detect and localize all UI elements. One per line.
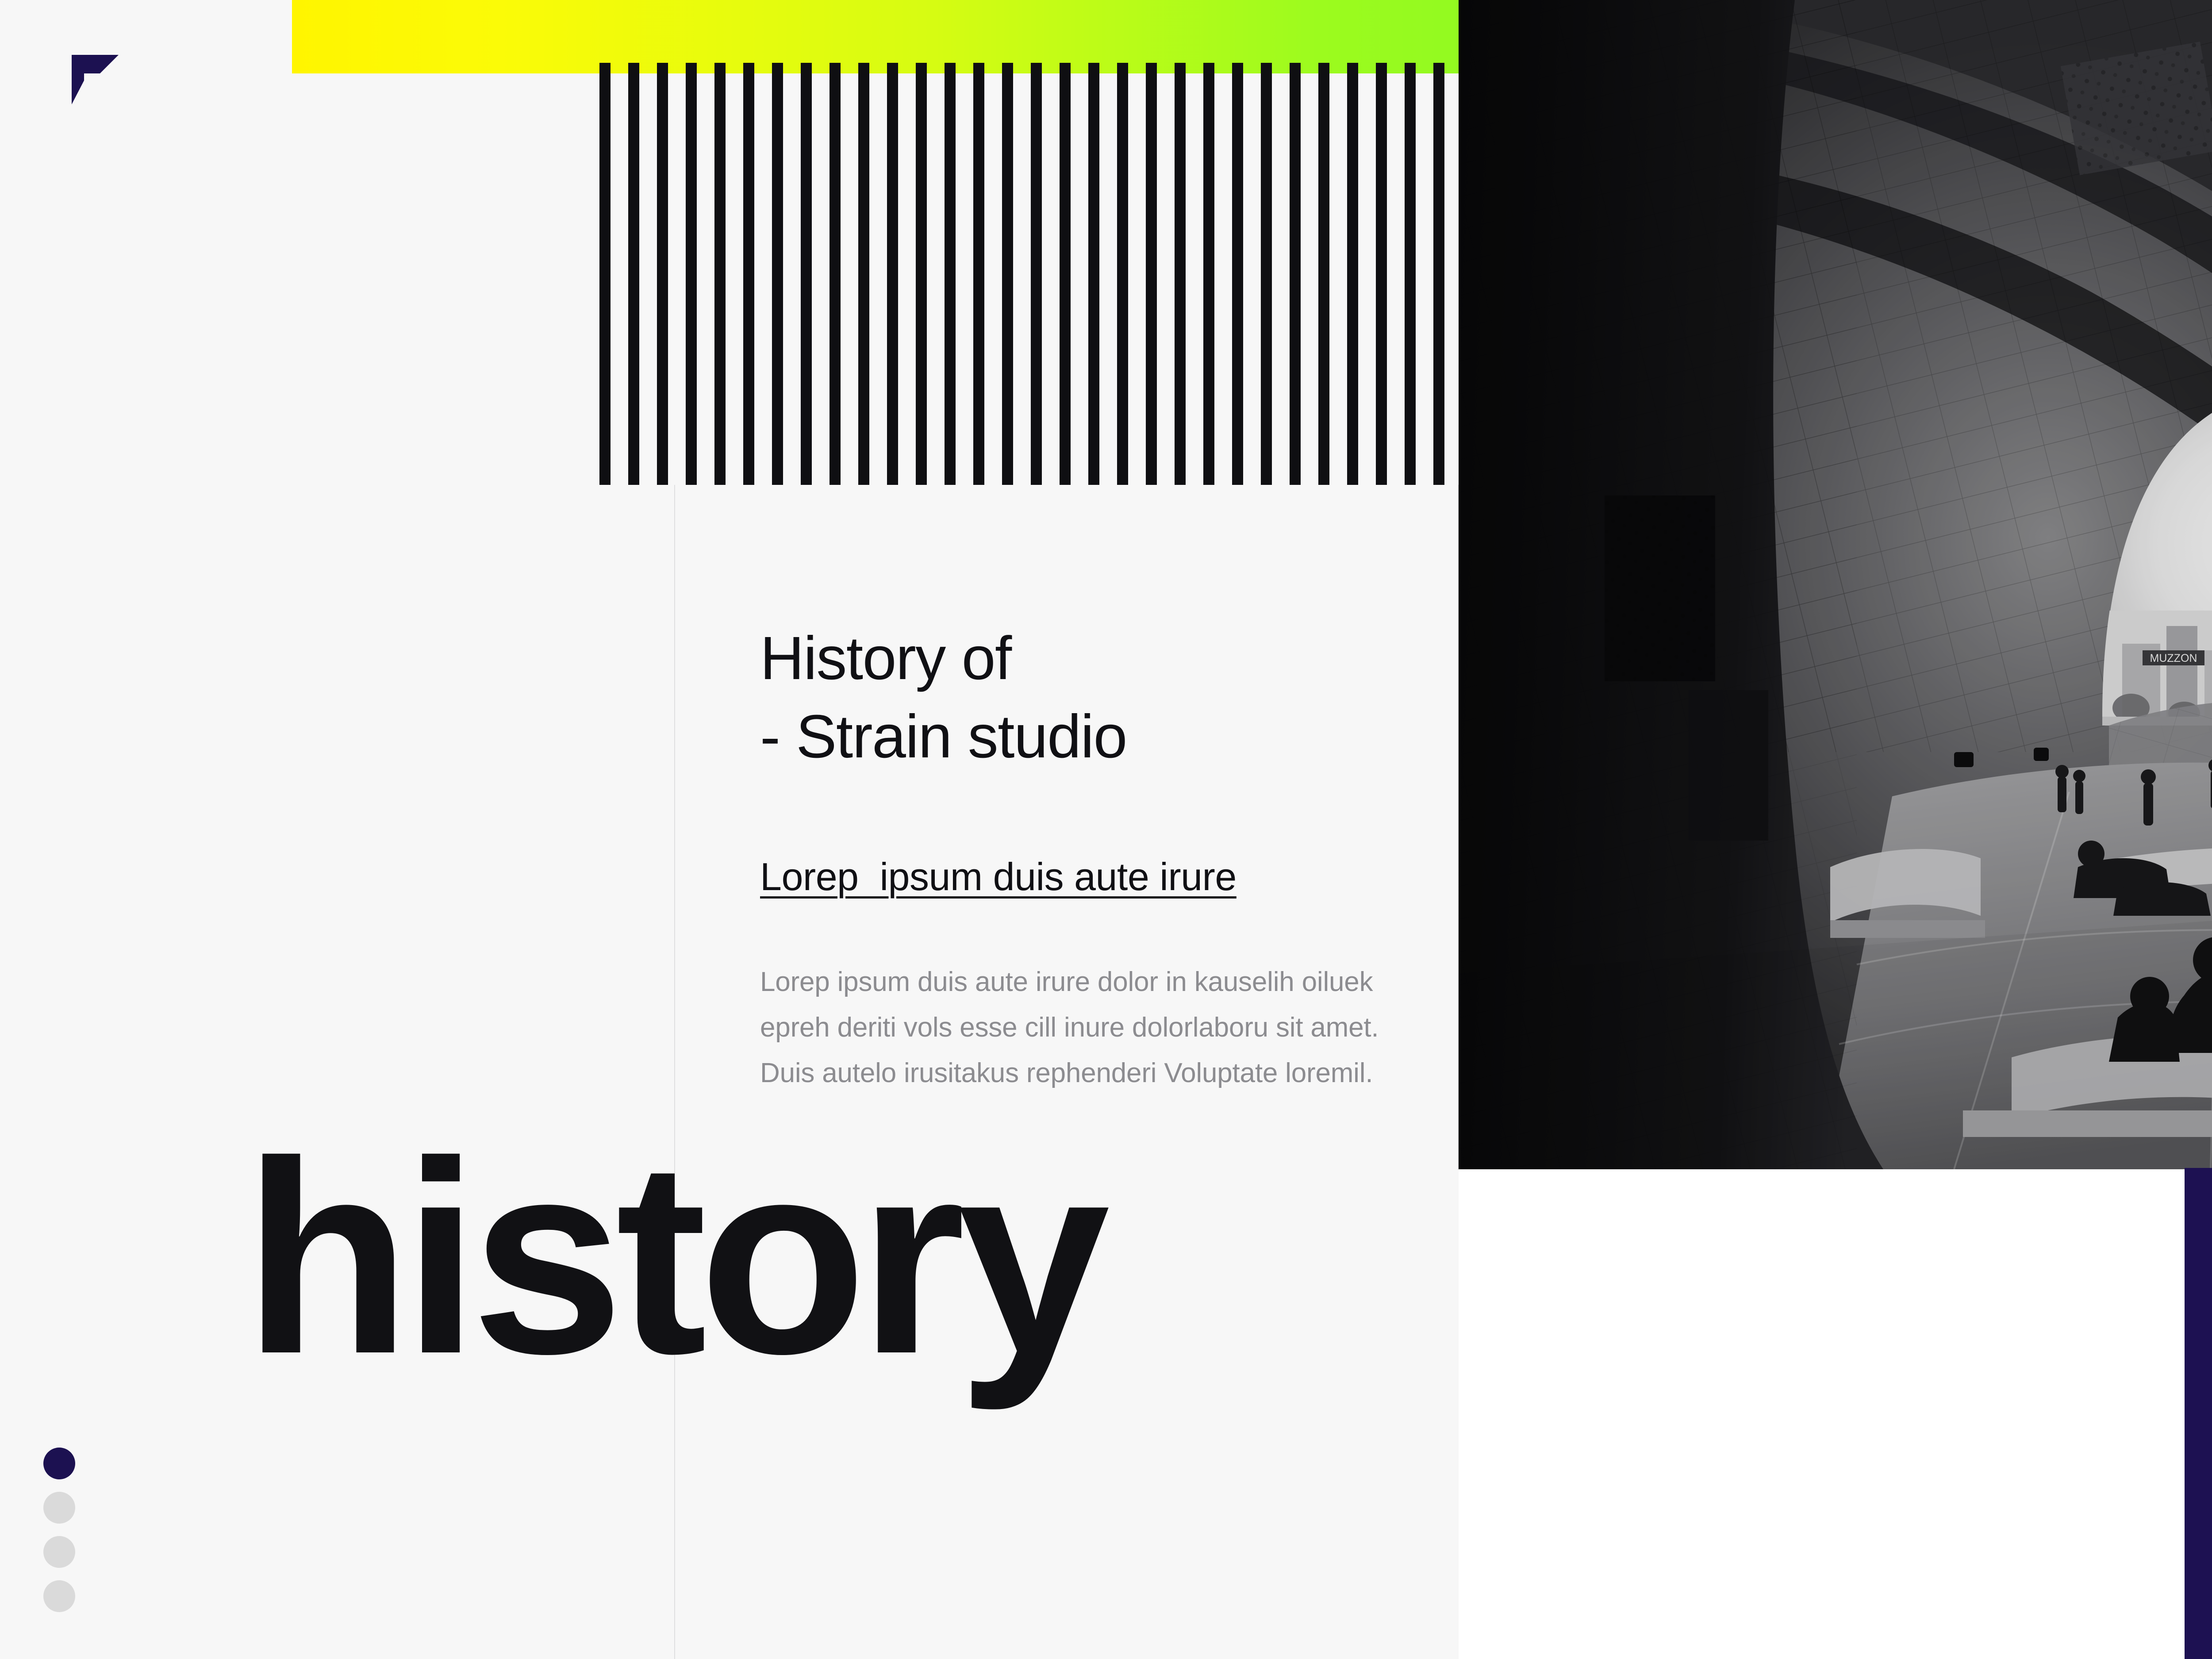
pagination-dot-1[interactable] — [43, 1448, 75, 1479]
decorative-word-history: history — [243, 1121, 1102, 1395]
lower-right-white-panel — [1459, 1169, 2212, 1659]
callout-panel: Lorep ipsum duis aute irure dolor in kau… — [2185, 1168, 2212, 1659]
page-title: History of - Strain studio — [760, 619, 1424, 776]
pagination-dot-2[interactable] — [43, 1492, 75, 1524]
pagination-dots[interactable] — [43, 1448, 75, 1612]
section-subheading-link[interactable]: Lorep ipsum duis aute irure — [760, 854, 1424, 899]
pagination-dot-3[interactable] — [43, 1536, 75, 1568]
architecture-photo: MUZZON — [1459, 0, 2212, 1169]
pagination-dot-4[interactable] — [43, 1580, 75, 1612]
presentation-slide: MUZZON — [0, 0, 2212, 1659]
vertical-stripe-pattern — [599, 63, 1459, 485]
angular-f-logo[interactable] — [66, 55, 119, 104]
body-paragraph: Lorep ipsum duis aute irure dolor in kau… — [760, 960, 1424, 1096]
column-divider-left — [674, 485, 675, 1659]
content-column: History of - Strain studio Lorep ipsum d… — [760, 619, 1424, 1124]
